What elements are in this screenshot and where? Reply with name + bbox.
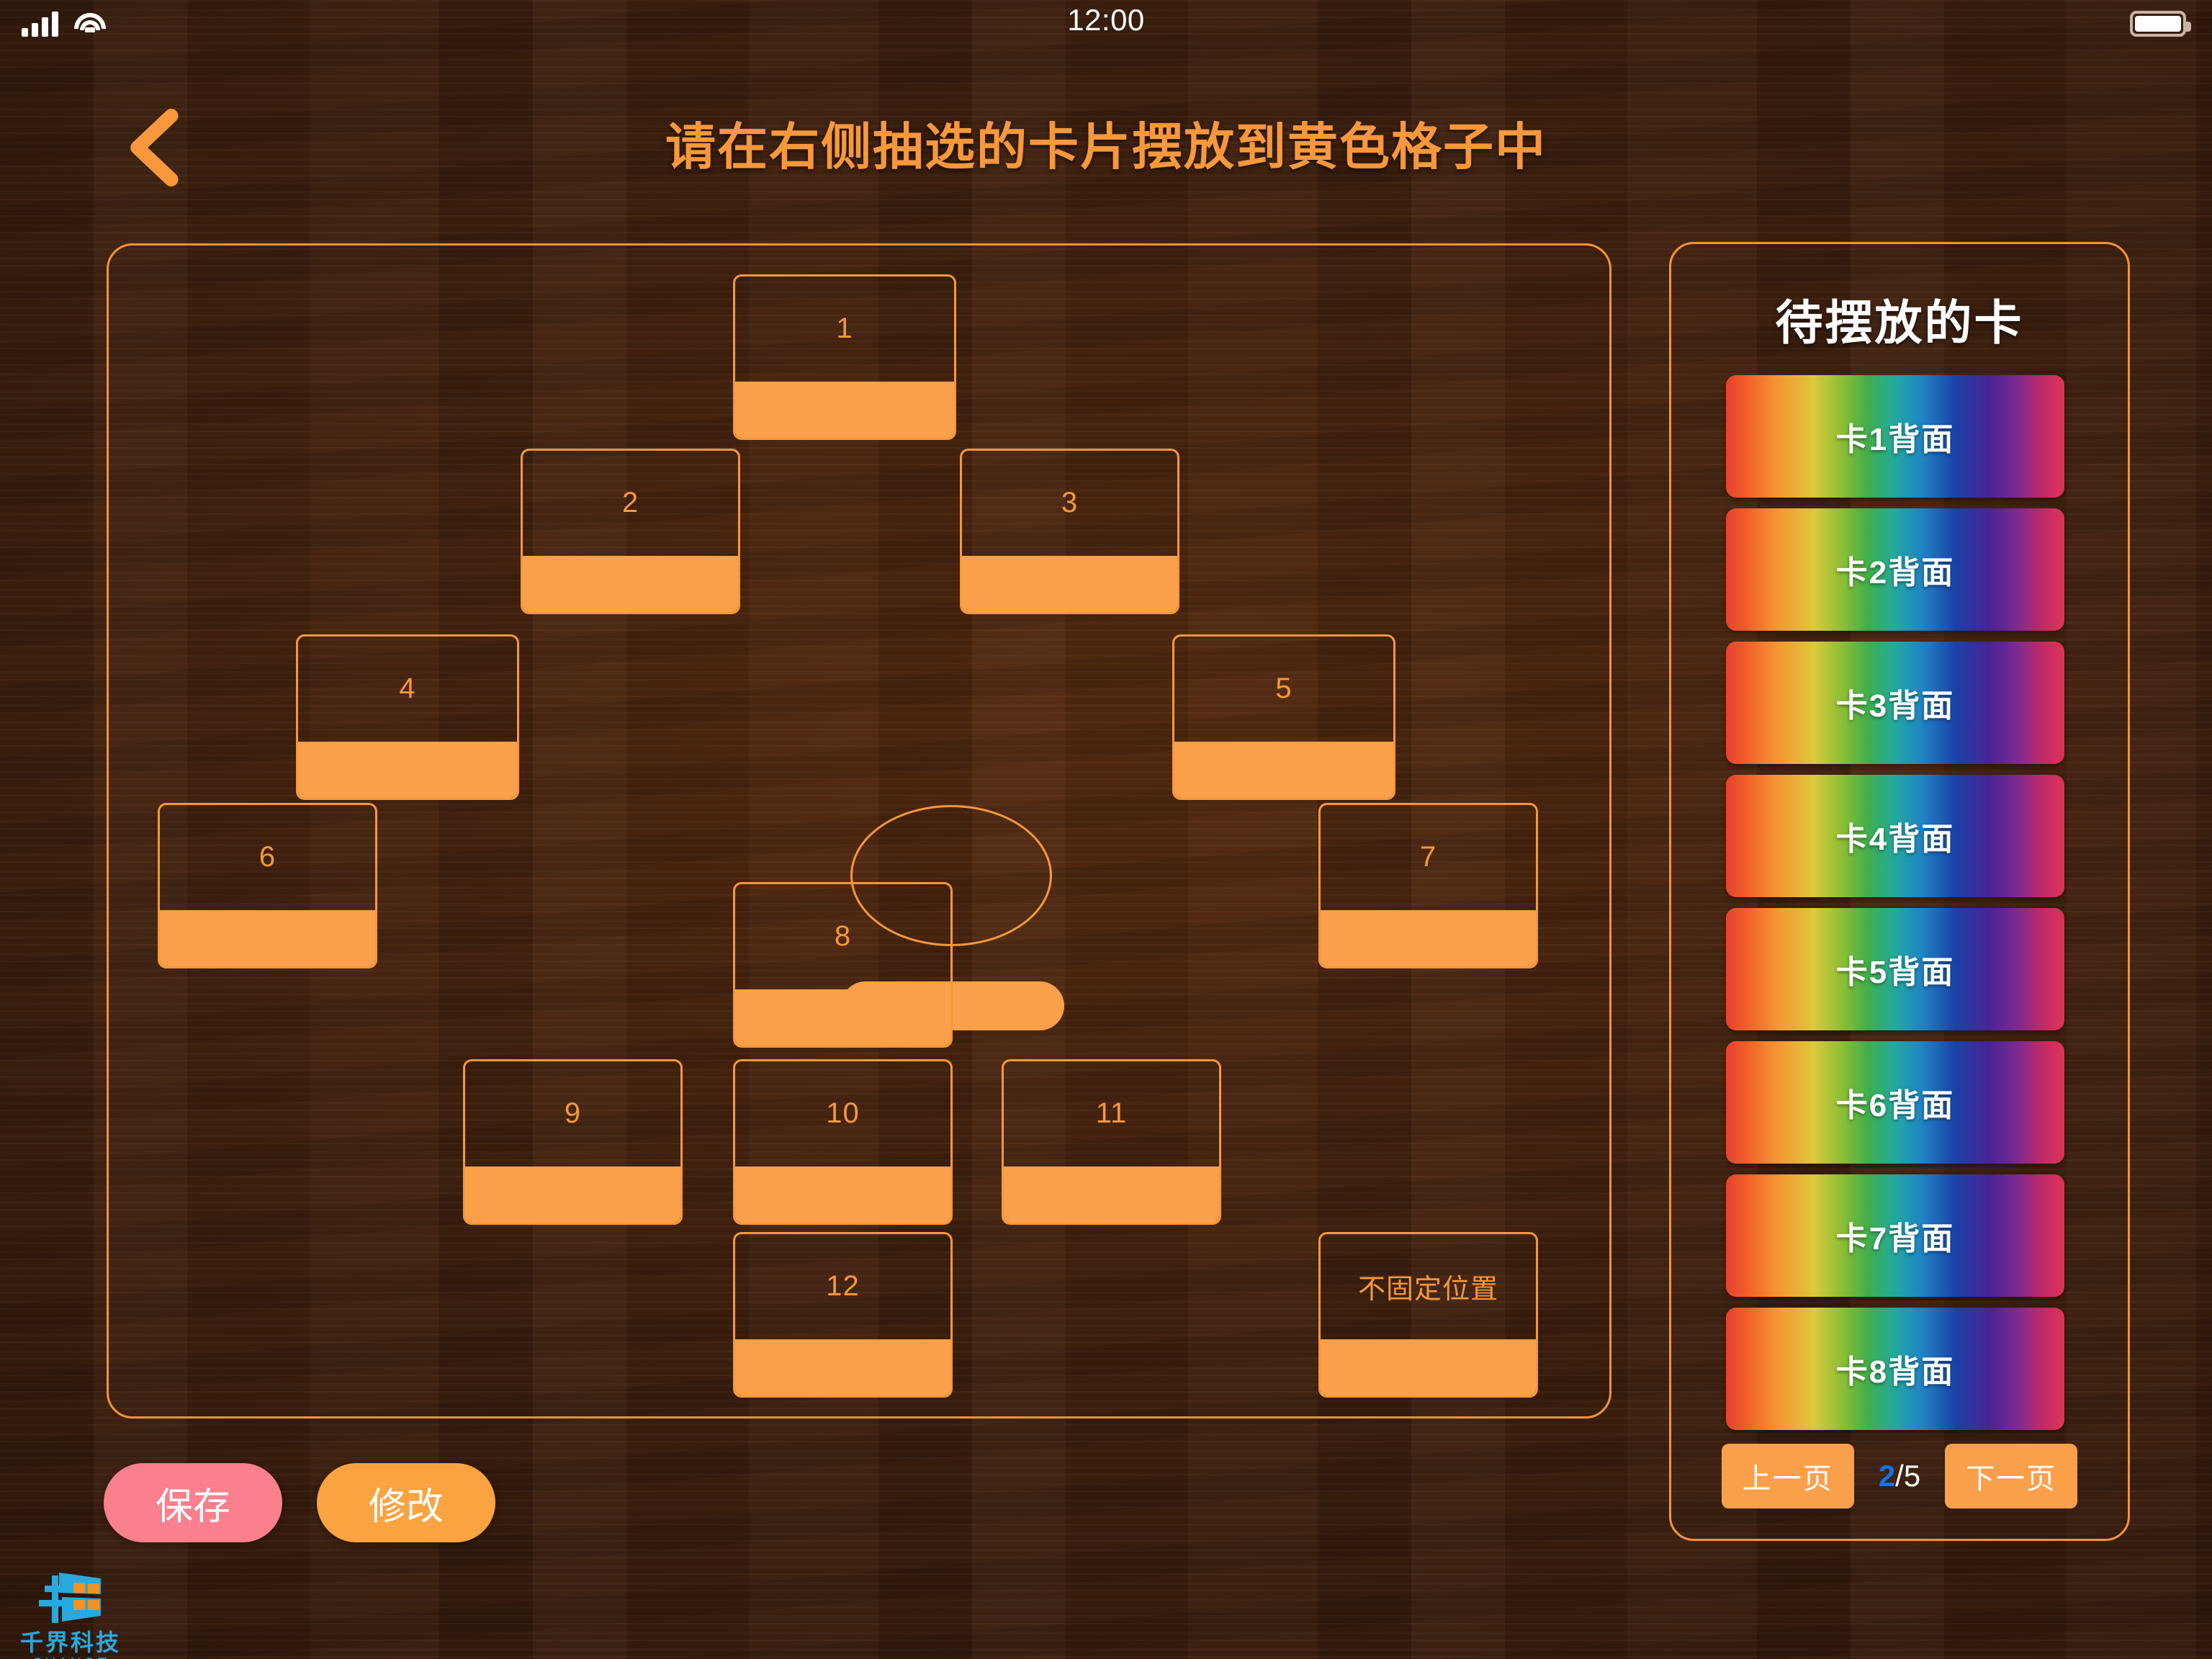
board-slot-12[interactable]: 12 xyxy=(733,1232,953,1398)
slot-drop-zone[interactable] xyxy=(1321,910,1536,966)
slot-label: 5 xyxy=(1174,637,1393,742)
slot-drop-zone[interactable] xyxy=(735,1166,950,1223)
slot-drop-zone[interactable] xyxy=(523,556,738,612)
board-slot-4[interactable]: 4 xyxy=(296,634,519,800)
slot-drop-zone[interactable] xyxy=(735,989,950,1046)
pending-card-label: 卡6背面 xyxy=(1836,1079,1954,1125)
pending-card-label: 卡1背面 xyxy=(1836,413,1954,459)
pagination: 上一页 2/5 下一页 xyxy=(1671,1444,2128,1509)
card-list: 卡1背面卡2背面卡3背面卡4背面卡5背面卡6背面卡7背面卡8背面 xyxy=(1726,375,2064,1430)
slot-label: 4 xyxy=(298,637,517,742)
slot-label: 10 xyxy=(735,1061,950,1166)
slot-drop-zone[interactable] xyxy=(1004,1166,1219,1223)
pending-card-4[interactable]: 卡4背面 xyxy=(1726,775,2064,897)
pending-card-5[interactable]: 卡5背面 xyxy=(1726,908,2064,1030)
pending-card-label: 卡7背面 xyxy=(1836,1213,1954,1259)
prev-page-button[interactable]: 上一页 xyxy=(1722,1444,1854,1509)
slot-drop-zone[interactable] xyxy=(962,556,1177,612)
action-button-row: 保存 修改 xyxy=(104,1463,495,1542)
board-slot-7[interactable]: 7 xyxy=(1318,803,1538,968)
pending-card-2[interactable]: 卡2背面 xyxy=(1726,508,2064,631)
chevron-left-icon xyxy=(109,101,203,194)
board-slot-3[interactable]: 3 xyxy=(960,449,1179,614)
back-button[interactable] xyxy=(109,101,203,194)
pending-card-label: 卡3背面 xyxy=(1836,680,1954,726)
slot-label: 不固定位置 xyxy=(1321,1234,1536,1339)
board-slot-8[interactable]: 8 xyxy=(733,882,953,1048)
slot-label: 2 xyxy=(523,451,738,556)
board-slot-9[interactable]: 9 xyxy=(463,1059,683,1225)
slot-label: 6 xyxy=(160,805,375,910)
current-page-number: 2 xyxy=(1879,1459,1895,1493)
brand-tagline: —CHANGE— xyxy=(13,1656,128,1659)
board-slot-13[interactable]: 不固定位置 xyxy=(1318,1232,1538,1398)
slot-drop-zone[interactable] xyxy=(735,1339,950,1395)
pending-card-6[interactable]: 卡6背面 xyxy=(1726,1041,2064,1164)
company-logo-icon xyxy=(30,1571,105,1626)
slot-label: 8 xyxy=(735,884,950,989)
board-slot-11[interactable]: 11 xyxy=(1002,1059,1221,1225)
save-button[interactable]: 保存 xyxy=(104,1463,282,1542)
pending-card-label: 卡5背面 xyxy=(1836,946,1954,992)
pending-cards-panel: 待摆放的卡 卡1背面卡2背面卡3背面卡4背面卡5背面卡6背面卡7背面卡8背面 上… xyxy=(1669,242,2130,1541)
brand-logo: 千界科技 —CHANGE— xyxy=(13,1571,128,1659)
status-bar-right xyxy=(2130,0,2186,48)
pending-card-label: 卡2背面 xyxy=(1836,547,1954,593)
slot-drop-zone[interactable] xyxy=(160,910,375,966)
slot-label: 7 xyxy=(1321,805,1536,910)
battery-full-icon xyxy=(2130,11,2186,37)
slot-drop-zone[interactable] xyxy=(1321,1339,1536,1395)
next-page-button[interactable]: 下一页 xyxy=(1945,1444,2077,1509)
board-slot-2[interactable]: 2 xyxy=(521,449,740,614)
slot-label: 12 xyxy=(735,1234,950,1339)
slot-label: 3 xyxy=(962,451,1177,556)
board-slot-5[interactable]: 5 xyxy=(1172,634,1395,800)
total-pages-label: /5 xyxy=(1895,1459,1920,1493)
pending-card-label: 卡8背面 xyxy=(1836,1346,1954,1392)
card-board: 123456789101112不固定位置 xyxy=(107,243,1611,1419)
slot-label: 1 xyxy=(735,276,954,382)
slot-drop-zone[interactable] xyxy=(298,742,517,798)
page-title: 请在右侧抽选的卡片摆放到黄色格子中 xyxy=(0,107,2212,179)
slot-label: 11 xyxy=(1004,1061,1219,1166)
board-slot-10[interactable]: 10 xyxy=(733,1059,953,1225)
board-slot-1[interactable]: 1 xyxy=(733,274,956,440)
slot-drop-zone[interactable] xyxy=(735,382,954,438)
slot-drop-zone[interactable] xyxy=(1174,742,1393,798)
slot-drop-zone[interactable] xyxy=(465,1166,680,1223)
pending-card-8[interactable]: 卡8背面 xyxy=(1726,1308,2064,1430)
board-slot-6[interactable]: 6 xyxy=(158,803,377,968)
page-indicator: 2/5 xyxy=(1879,1459,1920,1493)
panel-title: 待摆放的卡 xyxy=(1671,284,2128,354)
slot-label: 9 xyxy=(465,1061,680,1166)
pending-card-1[interactable]: 卡1背面 xyxy=(1726,375,2064,498)
pending-card-3[interactable]: 卡3背面 xyxy=(1726,642,2064,764)
modify-button[interactable]: 修改 xyxy=(317,1463,495,1542)
brand-name: 千界科技 xyxy=(13,1631,128,1654)
status-bar-clock: 12:00 xyxy=(0,3,2212,37)
status-bar: 12:00 xyxy=(0,0,2212,48)
pending-card-7[interactable]: 卡7背面 xyxy=(1726,1174,2064,1297)
pending-card-label: 卡4背面 xyxy=(1836,813,1954,859)
